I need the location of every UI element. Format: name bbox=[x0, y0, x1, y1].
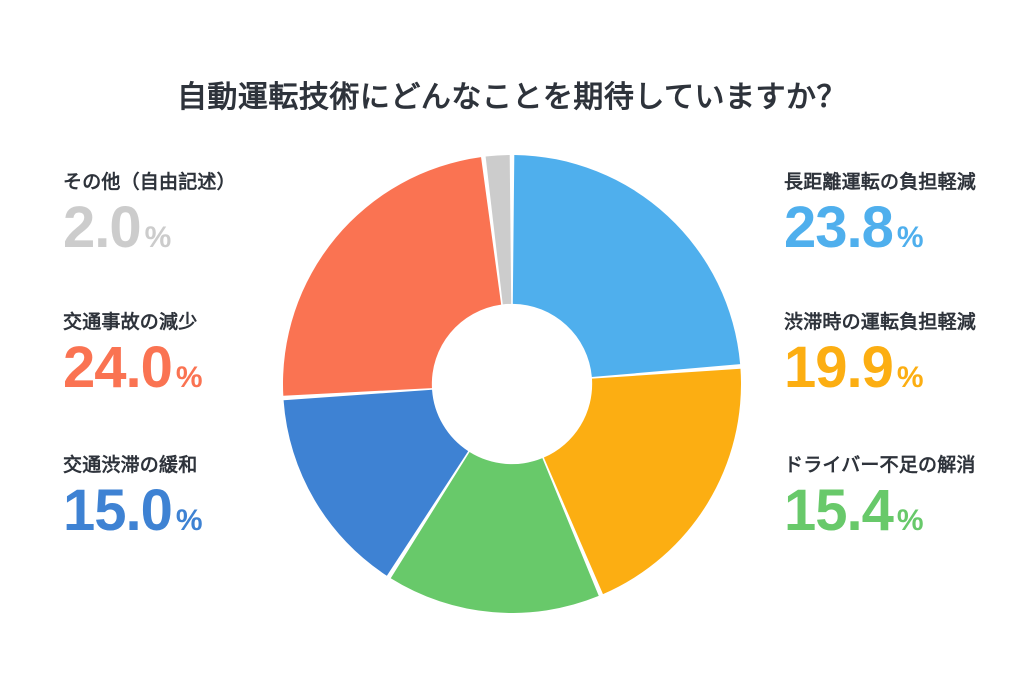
legend-percent-number: 2.0 bbox=[63, 195, 141, 260]
legend-percent-number: 19.9 bbox=[784, 335, 893, 400]
legend-item-accident-reduction: 交通事故の減少 24.0% bbox=[63, 312, 313, 397]
legend-value: 15.0% bbox=[63, 482, 313, 540]
legend-item-other: その他（自由記述） 2.0% bbox=[63, 172, 313, 257]
donut-chart-svg bbox=[283, 155, 741, 613]
legend-value: 2.0% bbox=[63, 199, 313, 257]
legend-percent-symbol: % bbox=[897, 361, 924, 394]
legend-percent-symbol: % bbox=[897, 221, 924, 254]
donut-slice bbox=[513, 155, 740, 377]
legend-item-long-distance-burden: 長距離運転の負担軽減 23.8% bbox=[784, 172, 1024, 257]
legend-percent-symbol: % bbox=[176, 361, 203, 394]
legend-percent-number: 15.0 bbox=[63, 478, 172, 543]
legend-label: ドライバー不足の解消 bbox=[784, 455, 1024, 478]
donut-chart bbox=[283, 155, 741, 613]
legend-label: 渋滞時の運転負担軽減 bbox=[784, 312, 1024, 335]
legend-value: 24.0% bbox=[63, 339, 313, 397]
legend-value: 15.4% bbox=[784, 482, 1024, 540]
legend-label: 交通事故の減少 bbox=[63, 312, 313, 335]
legend-percent-symbol: % bbox=[176, 504, 203, 537]
legend-percent-symbol: % bbox=[145, 221, 172, 254]
legend-label: その他（自由記述） bbox=[63, 172, 313, 195]
legend-percent-symbol: % bbox=[897, 504, 924, 537]
legend-label: 交通渋滞の緩和 bbox=[63, 455, 313, 478]
legend-percent-number: 23.8 bbox=[784, 195, 893, 260]
legend-percent-number: 24.0 bbox=[63, 335, 172, 400]
donut-slice bbox=[283, 157, 501, 396]
legend-percent-number: 15.4 bbox=[784, 478, 893, 543]
legend-value: 23.8% bbox=[784, 199, 1024, 257]
legend-item-congestion-relief: 交通渋滞の緩和 15.0% bbox=[63, 455, 313, 540]
legend-label: 長距離運転の負担軽減 bbox=[784, 172, 1024, 195]
page-title: 自動運転技術にどんなことを期待していますか？ bbox=[0, 72, 1024, 116]
legend-item-traffic-jam-burden: 渋滞時の運転負担軽減 19.9% bbox=[784, 312, 1024, 397]
legend-value: 19.9% bbox=[784, 339, 1024, 397]
legend-item-driver-shortage: ドライバー不足の解消 15.4% bbox=[784, 455, 1024, 540]
